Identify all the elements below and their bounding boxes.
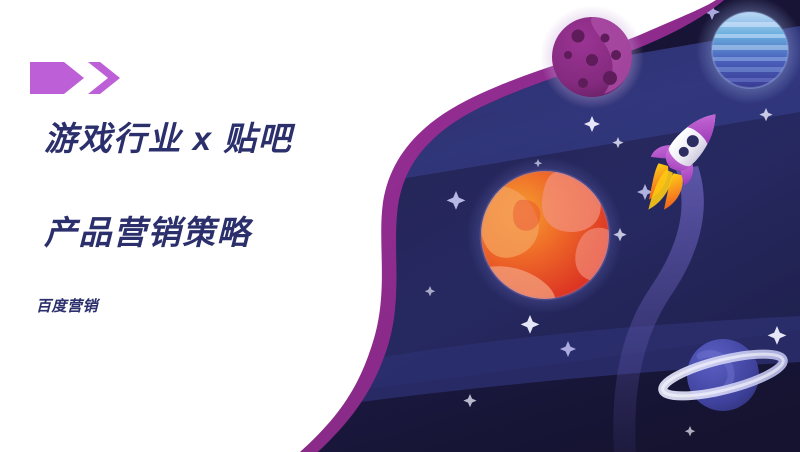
double-chevron-arrow-icon	[28, 58, 128, 98]
title-line-2: 产品营销策略	[44, 212, 374, 253]
cratered-moon	[540, 5, 644, 109]
presentation-slide: 游戏行业 x 贴吧 产品营销策略 百度营销	[0, 0, 800, 452]
brand-subtitle: 百度营销	[36, 295, 98, 316]
title-block: 游戏行业 x 贴吧 产品营销策略	[44, 118, 374, 254]
title-line-1: 游戏行业 x 贴吧	[44, 118, 374, 159]
